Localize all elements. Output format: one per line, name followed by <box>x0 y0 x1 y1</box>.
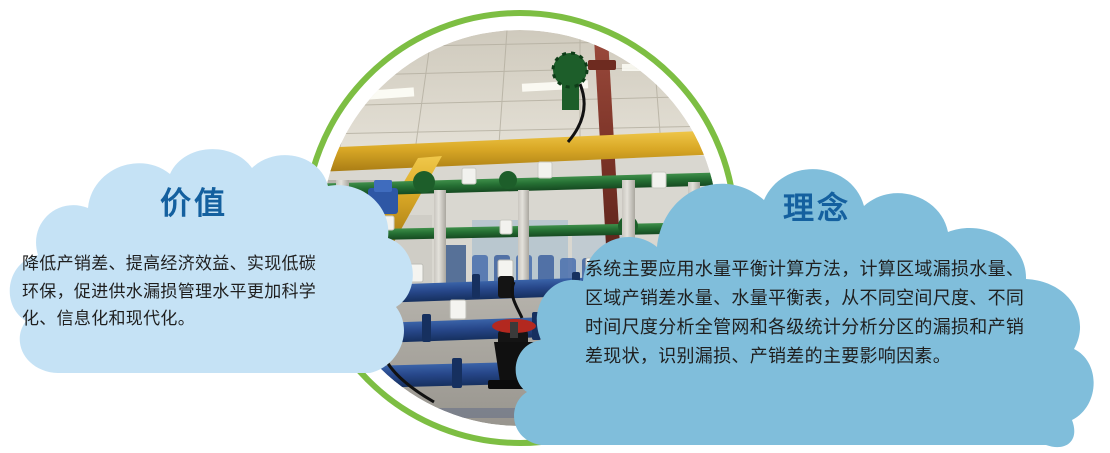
left-cloud-title: 价值 <box>160 178 228 223</box>
right-cloud-title: 理念 <box>783 183 851 228</box>
left-cloud-body: 降低产销差、提高经济效益、实现低碳 环保，促进供水漏损管理水平更加科学 化、信息… <box>22 250 394 333</box>
cloud-left-shape <box>0 0 1110 453</box>
right-cloud-body: 系统主要应用水量平衡计算方法，计算区域漏损水量、 区域产销差水量、水量平衡表，从… <box>585 255 1085 372</box>
infographic-canvas: 价值 降低产销差、提高经济效益、实现低碳 环保，促进供水漏损管理水平更加科学 化… <box>0 0 1110 453</box>
